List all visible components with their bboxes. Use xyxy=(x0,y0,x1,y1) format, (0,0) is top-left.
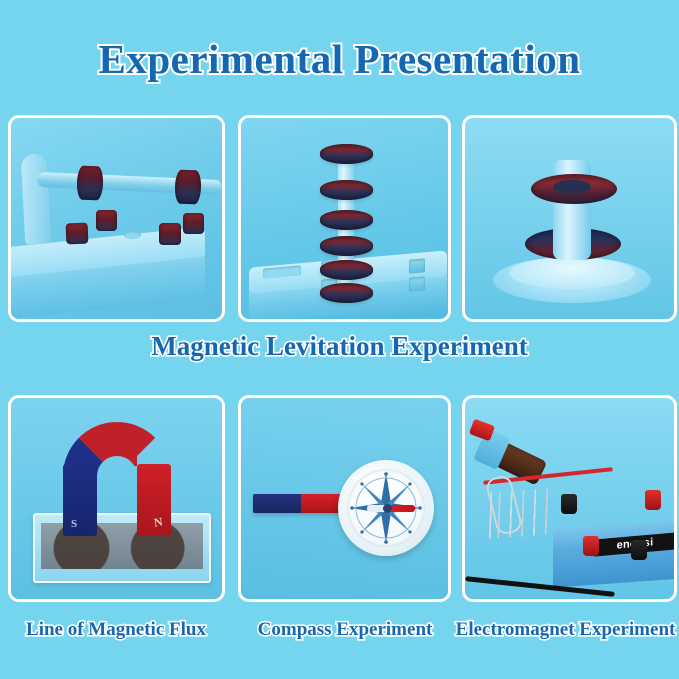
caption-line-of-magnetic-flux: Line of Magnetic Flux xyxy=(8,619,224,641)
base-hole xyxy=(124,231,141,239)
block-magnet xyxy=(96,210,117,231)
round-base-top xyxy=(509,257,635,289)
horseshoe-south-pole: S xyxy=(63,464,97,536)
binding-post-black xyxy=(631,540,647,560)
block-magnet xyxy=(66,223,89,245)
compass-dial xyxy=(347,469,425,547)
compass-pivot xyxy=(383,504,392,513)
scene-vertical-levitation xyxy=(241,118,448,319)
scene-round-base-levitation xyxy=(465,118,674,319)
photo-panel-rod-ring-magnets[interactable] xyxy=(8,115,225,322)
ring-magnet xyxy=(320,236,373,256)
bar-magnet xyxy=(253,494,348,513)
caption-compass-experiment: Compass Experiment xyxy=(238,619,452,641)
horseshoe-magnet: S N xyxy=(63,422,171,534)
ring-magnet xyxy=(320,180,373,200)
pole-label-s: S xyxy=(71,518,77,530)
block-magnet xyxy=(183,213,204,234)
scene-magnetic-flux: S N xyxy=(11,398,222,599)
ring-magnet xyxy=(174,170,201,205)
stand-upright xyxy=(21,153,52,244)
compass[interactable] xyxy=(338,460,434,556)
caption-electromagnet-experiment: Electromagnet Experiment xyxy=(452,619,679,641)
binding-post-red xyxy=(645,490,661,510)
photo-panel-round-base-levitation[interactable] xyxy=(462,115,677,322)
photo-panel-vertical-levitation[interactable] xyxy=(238,115,451,322)
scene-compass xyxy=(241,398,448,599)
photo-panel-compass[interactable] xyxy=(238,395,451,602)
photo-panel-electromagnet[interactable]: enonsi xyxy=(462,395,677,602)
scene-rod-ring-magnets xyxy=(11,118,222,319)
page-title: Experimental Presentation xyxy=(0,38,679,81)
bar-magnet-south-pole xyxy=(253,494,301,513)
horseshoe-north-pole: N xyxy=(137,464,171,536)
ring-magnet xyxy=(320,144,373,164)
ring-magnet xyxy=(320,210,373,230)
scene-electromagnet: enonsi xyxy=(465,398,674,599)
ring-magnet xyxy=(76,166,103,201)
ring-magnet-bore xyxy=(553,180,591,194)
presentation-page: Experimental Presentation xyxy=(0,0,679,679)
base-socket xyxy=(409,258,425,273)
photo-panel-magnetic-flux[interactable]: S N xyxy=(8,395,225,602)
block-magnet xyxy=(159,223,181,245)
pole-label-n: N xyxy=(153,514,164,530)
ring-magnet xyxy=(320,283,373,303)
binding-post-red xyxy=(583,536,599,556)
caption-magnetic-levitation: Magnetic Levitation Experiment xyxy=(0,331,679,362)
ring-magnet xyxy=(320,260,373,280)
base-socket xyxy=(409,276,425,291)
